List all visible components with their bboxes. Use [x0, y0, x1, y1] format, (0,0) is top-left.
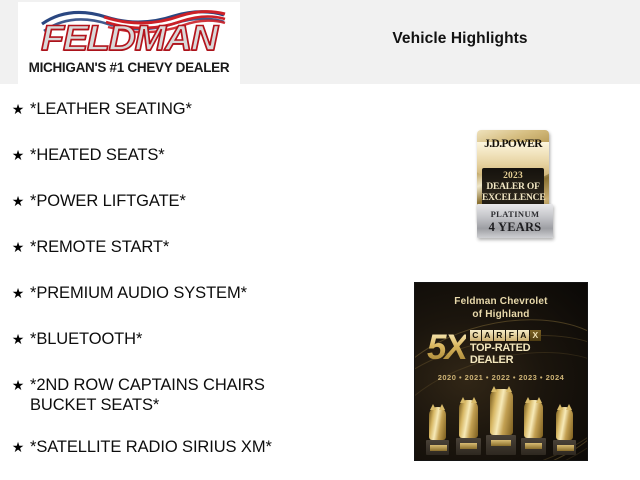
vehicle-highlights-list: ★ *LEATHER SEATING* ★ *HEATED SEATS* ★ *…: [0, 84, 400, 468]
star-bullet-icon: ★: [10, 314, 26, 351]
list-item-label: *LEATHER SEATING*: [26, 84, 400, 119]
page-header: FELDMAN MICHIGAN'S #1 CHEVY DEALER Vehic…: [0, 0, 640, 84]
carfax-letter: A: [482, 330, 493, 341]
carfax-dealer-name: Feldman Chevrolet of Highland: [415, 295, 587, 321]
list-item: ★ *BLUETOOTH*: [0, 314, 400, 360]
list-item-label: *2ND ROW CAPTAINS CHAIRS BUCKET SEATS*: [26, 360, 400, 415]
jdpower-award-title: DEALER OF EXCELLENCE: [482, 182, 544, 204]
carfax-wordmark: C A R F A X: [470, 330, 541, 341]
star-bullet-icon: ★: [10, 360, 26, 397]
carfax-multiplier: 5X: [427, 330, 466, 366]
list-item-label: *HEATED SEATS*: [26, 130, 400, 165]
list-item: ★ *PREMIUM AUDIO SYSTEM*: [0, 268, 400, 314]
jdpower-year: 2023: [482, 171, 544, 181]
list-item-label: *SATELLITE RADIO SIRIUS XM*: [26, 422, 400, 457]
carfax-logo-block: C A R F A X TOP-RATED DEALER: [470, 330, 541, 366]
jdpower-duration: 4 YEARS: [477, 220, 553, 235]
list-item-label: *REMOTE START*: [26, 222, 400, 257]
list-item: ★ *HEATED SEATS*: [0, 130, 400, 176]
trophy-icon: [454, 400, 483, 455]
logo-tagline: MICHIGAN'S #1 CHEVY DEALER: [18, 60, 240, 75]
list-item-label: *BLUETOOTH*: [26, 314, 400, 349]
list-item-label: *PREMIUM AUDIO SYSTEM*: [26, 268, 400, 303]
trophy-icon: [485, 389, 518, 455]
jdpower-award-badge: J.D.POWER 2023 DEALER OF EXCELLENCE PLAT…: [477, 130, 553, 238]
carfax-headline: 5X C A R F A X TOP-RATED DEALER: [427, 327, 577, 369]
carfax-letter: R: [494, 330, 505, 341]
jdpower-tier: PLATINUM: [477, 209, 553, 219]
star-bullet-icon: ★: [10, 176, 26, 213]
star-bullet-icon: ★: [10, 422, 26, 459]
page-title: Vehicle Highlights: [320, 30, 600, 48]
star-bullet-icon: ★: [10, 222, 26, 259]
trophy-icon: [550, 407, 579, 455]
dealer-logo[interactable]: FELDMAN MICHIGAN'S #1 CHEVY DEALER: [18, 2, 240, 84]
trophy-icon: [519, 400, 548, 455]
list-item: ★ *SATELLITE RADIO SIRIUS XM*: [0, 422, 400, 468]
feldman-wordmark-text: FELDMAN: [18, 20, 240, 58]
star-bullet-icon: ★: [10, 84, 26, 121]
carfax-trophy-group: [423, 383, 579, 455]
feldman-wordmark: FELDMAN: [26, 20, 232, 58]
carfax-letter: X: [530, 330, 541, 341]
list-item: ★ *2ND ROW CAPTAINS CHAIRS BUCKET SEATS*: [0, 360, 400, 422]
star-bullet-icon: ★: [10, 130, 26, 167]
carfax-award-years: 2020 • 2021 • 2022 • 2023 • 2024: [415, 373, 587, 382]
trophy-icon: [423, 407, 452, 455]
list-item-label: *POWER LIFTGATE*: [26, 176, 400, 211]
carfax-top-rated-dealer-award: Feldman Chevrolet of Highland 5X C A R F…: [414, 282, 588, 461]
list-item: ★ *LEATHER SEATING*: [0, 84, 400, 130]
jdpower-brand-label: J.D.POWER: [477, 138, 549, 150]
list-item: ★ *POWER LIFTGATE*: [0, 176, 400, 222]
carfax-letter: C: [470, 330, 481, 341]
carfax-rating-label: TOP-RATED DEALER: [470, 342, 541, 366]
carfax-letter: F: [506, 330, 517, 341]
list-item: ★ *REMOTE START*: [0, 222, 400, 268]
jdpower-ribbon: PLATINUM 4 YEARS: [477, 204, 553, 238]
star-bullet-icon: ★: [10, 268, 26, 305]
carfax-letter: A: [518, 330, 529, 341]
